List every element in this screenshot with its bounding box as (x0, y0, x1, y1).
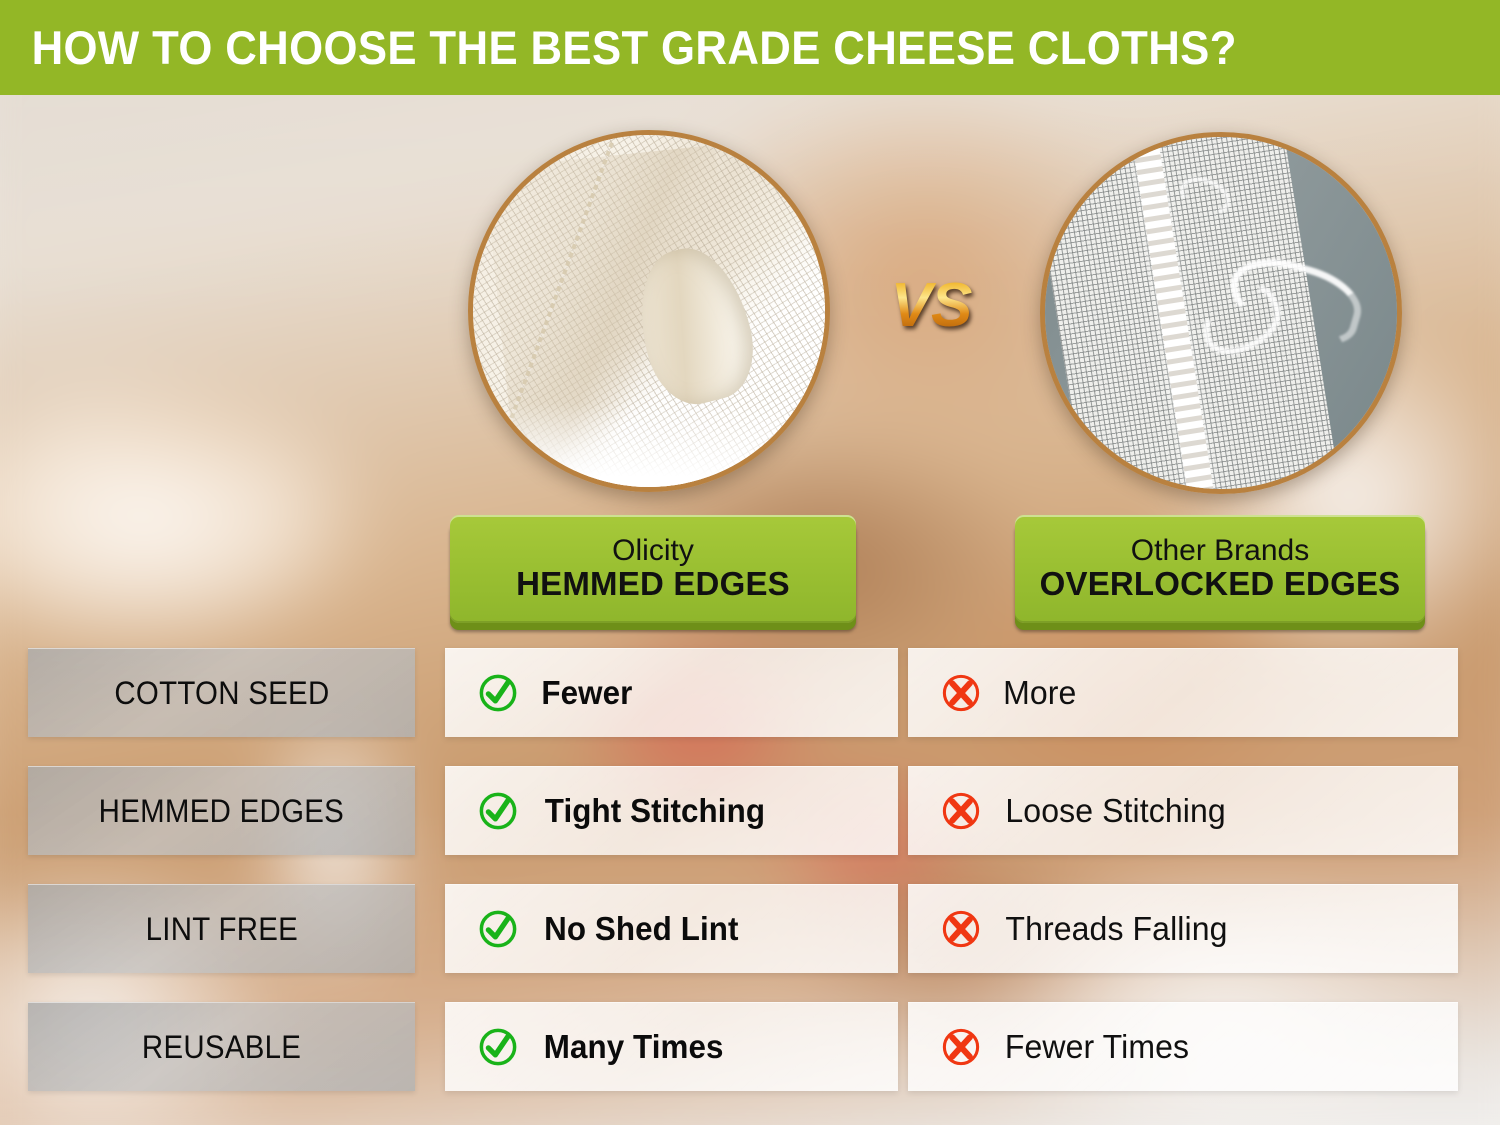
feature-label: LINT FREE (145, 911, 297, 948)
olicity-value-cell: Fewer (445, 648, 898, 737)
other-brands-value-cell: Fewer Times (908, 1002, 1458, 1091)
check-circle-icon (477, 1026, 519, 1068)
other-brands-label: Other Brands (1131, 535, 1309, 567)
x-circle-icon (940, 672, 982, 714)
other-brands-value-text: Threads Falling (1005, 910, 1227, 948)
olicity-edge-type-label: HEMMED EDGES (516, 566, 790, 603)
other-brands-value-text: More (1003, 674, 1076, 712)
x-circle-icon (940, 1026, 982, 1068)
vs-badge: VS (876, 268, 986, 342)
product-photo-overlocked-edges (1040, 132, 1402, 494)
column-header-other-brands: Other Brands OVERLOCKED EDGES (1015, 515, 1425, 623)
header-banner: HOW TO CHOOSE THE BEST GRADE CHEESE CLOT… (0, 0, 1500, 95)
olicity-value-cell: Tight Stitching (445, 766, 898, 855)
olicity-value-text: Fewer (541, 674, 632, 712)
x-circle-icon (940, 908, 982, 950)
other-brands-value-cell: Loose Stitching (908, 766, 1458, 855)
olicity-value-text: No Shed Lint (544, 910, 738, 948)
feature-label: HEMMED EDGES (99, 793, 344, 830)
check-circle-icon (477, 908, 519, 950)
feature-label-cell: REUSABLE (28, 1002, 415, 1091)
page-title: HOW TO CHOOSE THE BEST GRADE CHEESE CLOT… (0, 24, 1237, 71)
check-circle-icon (477, 672, 519, 714)
feature-label: COTTON SEED (114, 675, 329, 712)
white-surface (468, 403, 830, 492)
feature-label-cell: COTTON SEED (28, 648, 415, 737)
table-row: COTTON SEED Fewer More (0, 648, 1500, 736)
column-header-olicity: Olicity HEMMED EDGES (450, 515, 856, 623)
table-row: LINT FREE No Shed Lint Threads Falling (0, 884, 1500, 972)
olicity-brand-label: Olicity (612, 535, 694, 567)
other-brands-value-text: Loose Stitching (1005, 792, 1225, 830)
olicity-value-cell: No Shed Lint (445, 884, 898, 973)
other-brands-value-text: Fewer Times (1005, 1028, 1189, 1066)
olicity-value-cell: Many Times (445, 1002, 898, 1091)
x-circle-icon (940, 790, 982, 832)
feature-label: REUSABLE (142, 1029, 301, 1066)
product-photo-hemmed-edges (468, 130, 830, 492)
olicity-value-text: Tight Stitching (545, 792, 765, 830)
infographic-root: HOW TO CHOOSE THE BEST GRADE CHEESE CLOT… (0, 0, 1500, 1125)
olicity-value-text: Many Times (544, 1028, 724, 1066)
feature-label-cell: LINT FREE (28, 884, 415, 973)
other-brands-value-cell: More (908, 648, 1458, 737)
table-row: HEMMED EDGES Tight Stitching Loose Stitc… (0, 766, 1500, 854)
other-brands-edge-type-label: OVERLOCKED EDGES (1040, 566, 1401, 603)
overlocked-cloth-photo (1045, 137, 1397, 489)
comparison-table: COTTON SEED Fewer More HEMMED EDGES (0, 648, 1500, 1120)
table-row: REUSABLE Many Times Fewer Times (0, 1002, 1500, 1090)
other-brands-value-cell: Threads Falling (908, 884, 1458, 973)
hemmed-cloth-photo (473, 135, 825, 487)
feature-label-cell: HEMMED EDGES (28, 766, 415, 855)
check-circle-icon (477, 790, 519, 832)
